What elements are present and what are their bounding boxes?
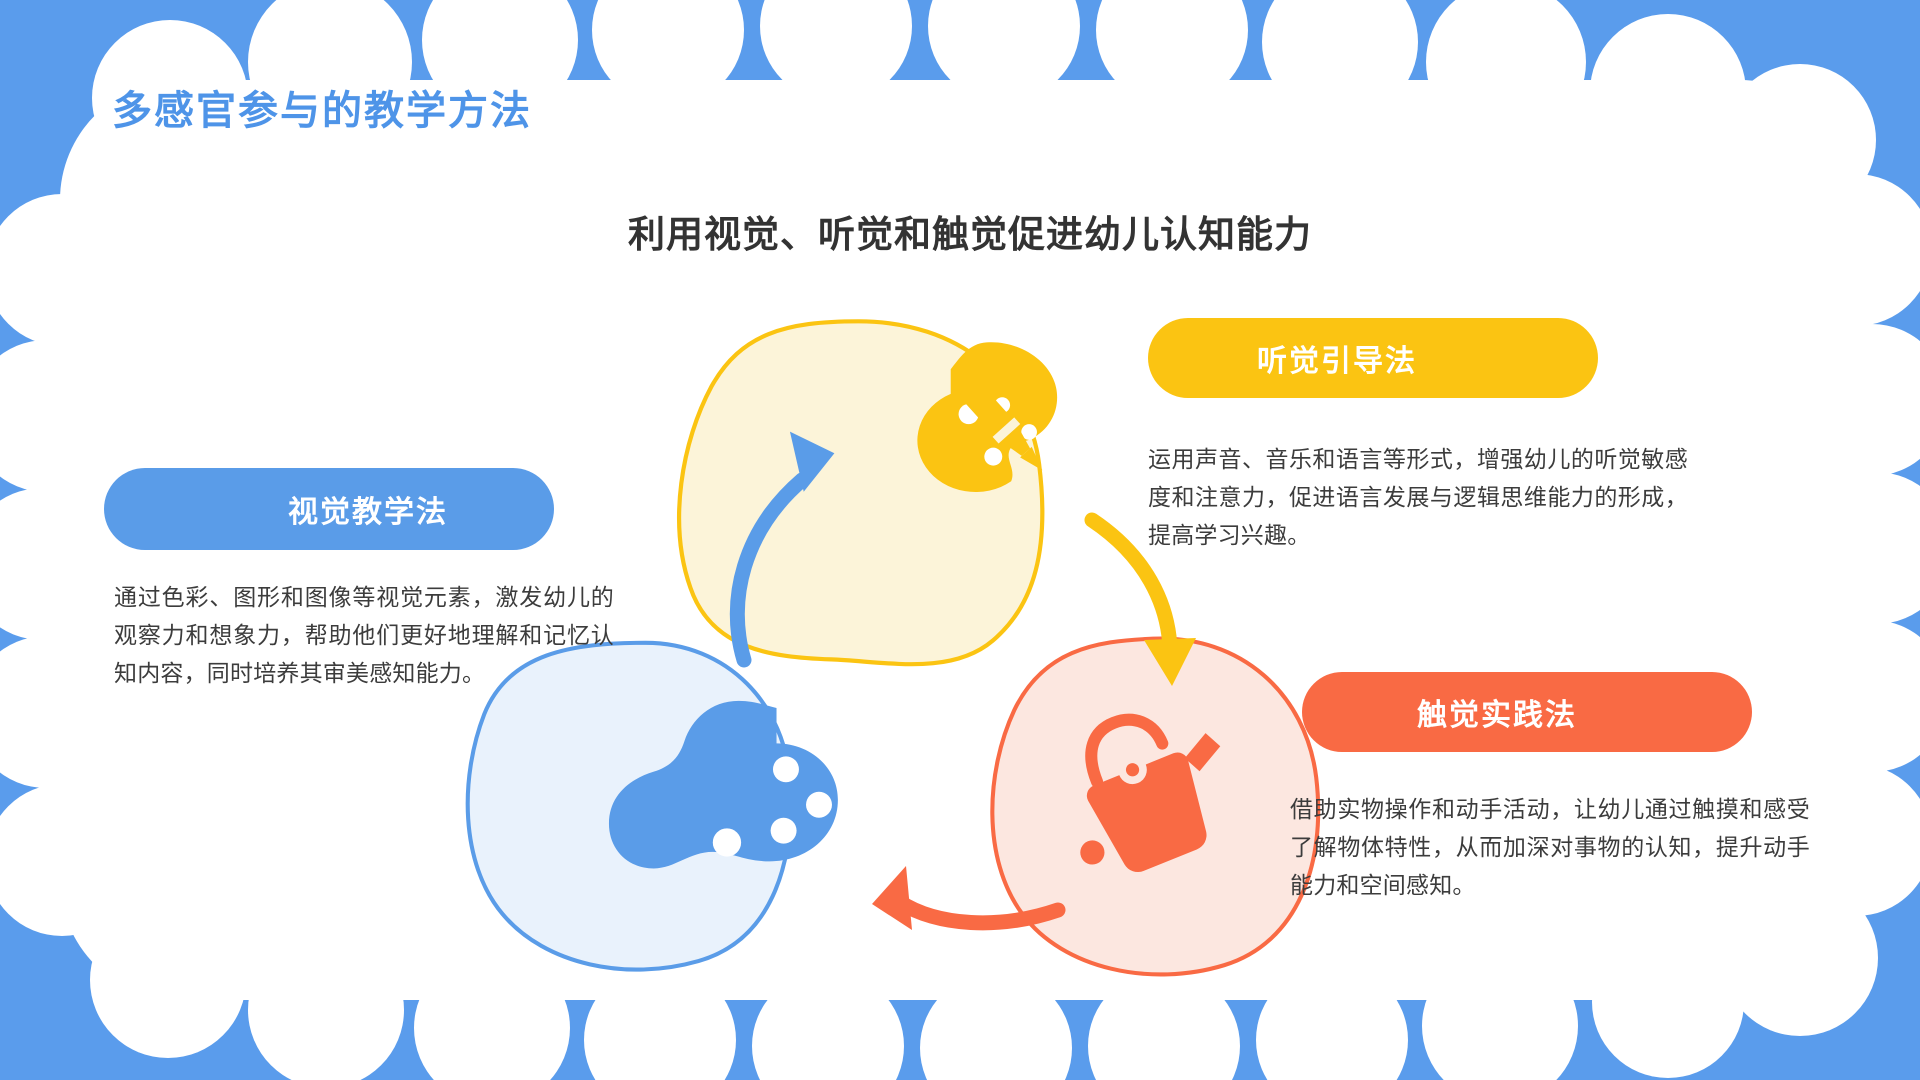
description-touch-method: 借助实物操作和动手活动，让幼儿通过触摸和感受了解物体特性，从而加深对事物的认知，… — [1290, 790, 1810, 904]
badge-visual-label: 视觉教学法 — [288, 487, 448, 531]
badge-audio-label: 听觉引导法 — [1257, 336, 1417, 380]
description-audio-method: 运用声音、音乐和语言等形式，增强幼儿的听觉敏感度和注意力，促进语言发展与逻辑思维… — [1148, 440, 1688, 554]
badge-audio-method[interactable]: 听觉引导法 — [1148, 318, 1598, 398]
badge-touch-method[interactable]: 触觉实践法 — [1302, 672, 1752, 752]
badge-touch-label: 触觉实践法 — [1417, 690, 1577, 734]
badge-visual-method[interactable]: 视觉教学法 — [104, 468, 554, 550]
slide-canvas: 多感官参与的教学方法 利用视觉、听觉和触觉促进幼儿认知能力 — [0, 0, 1920, 1080]
description-visual-method: 通过色彩、图形和图像等视觉元素，激发幼儿的观察力和想象力，帮助他们更好地理解和记… — [114, 578, 614, 692]
